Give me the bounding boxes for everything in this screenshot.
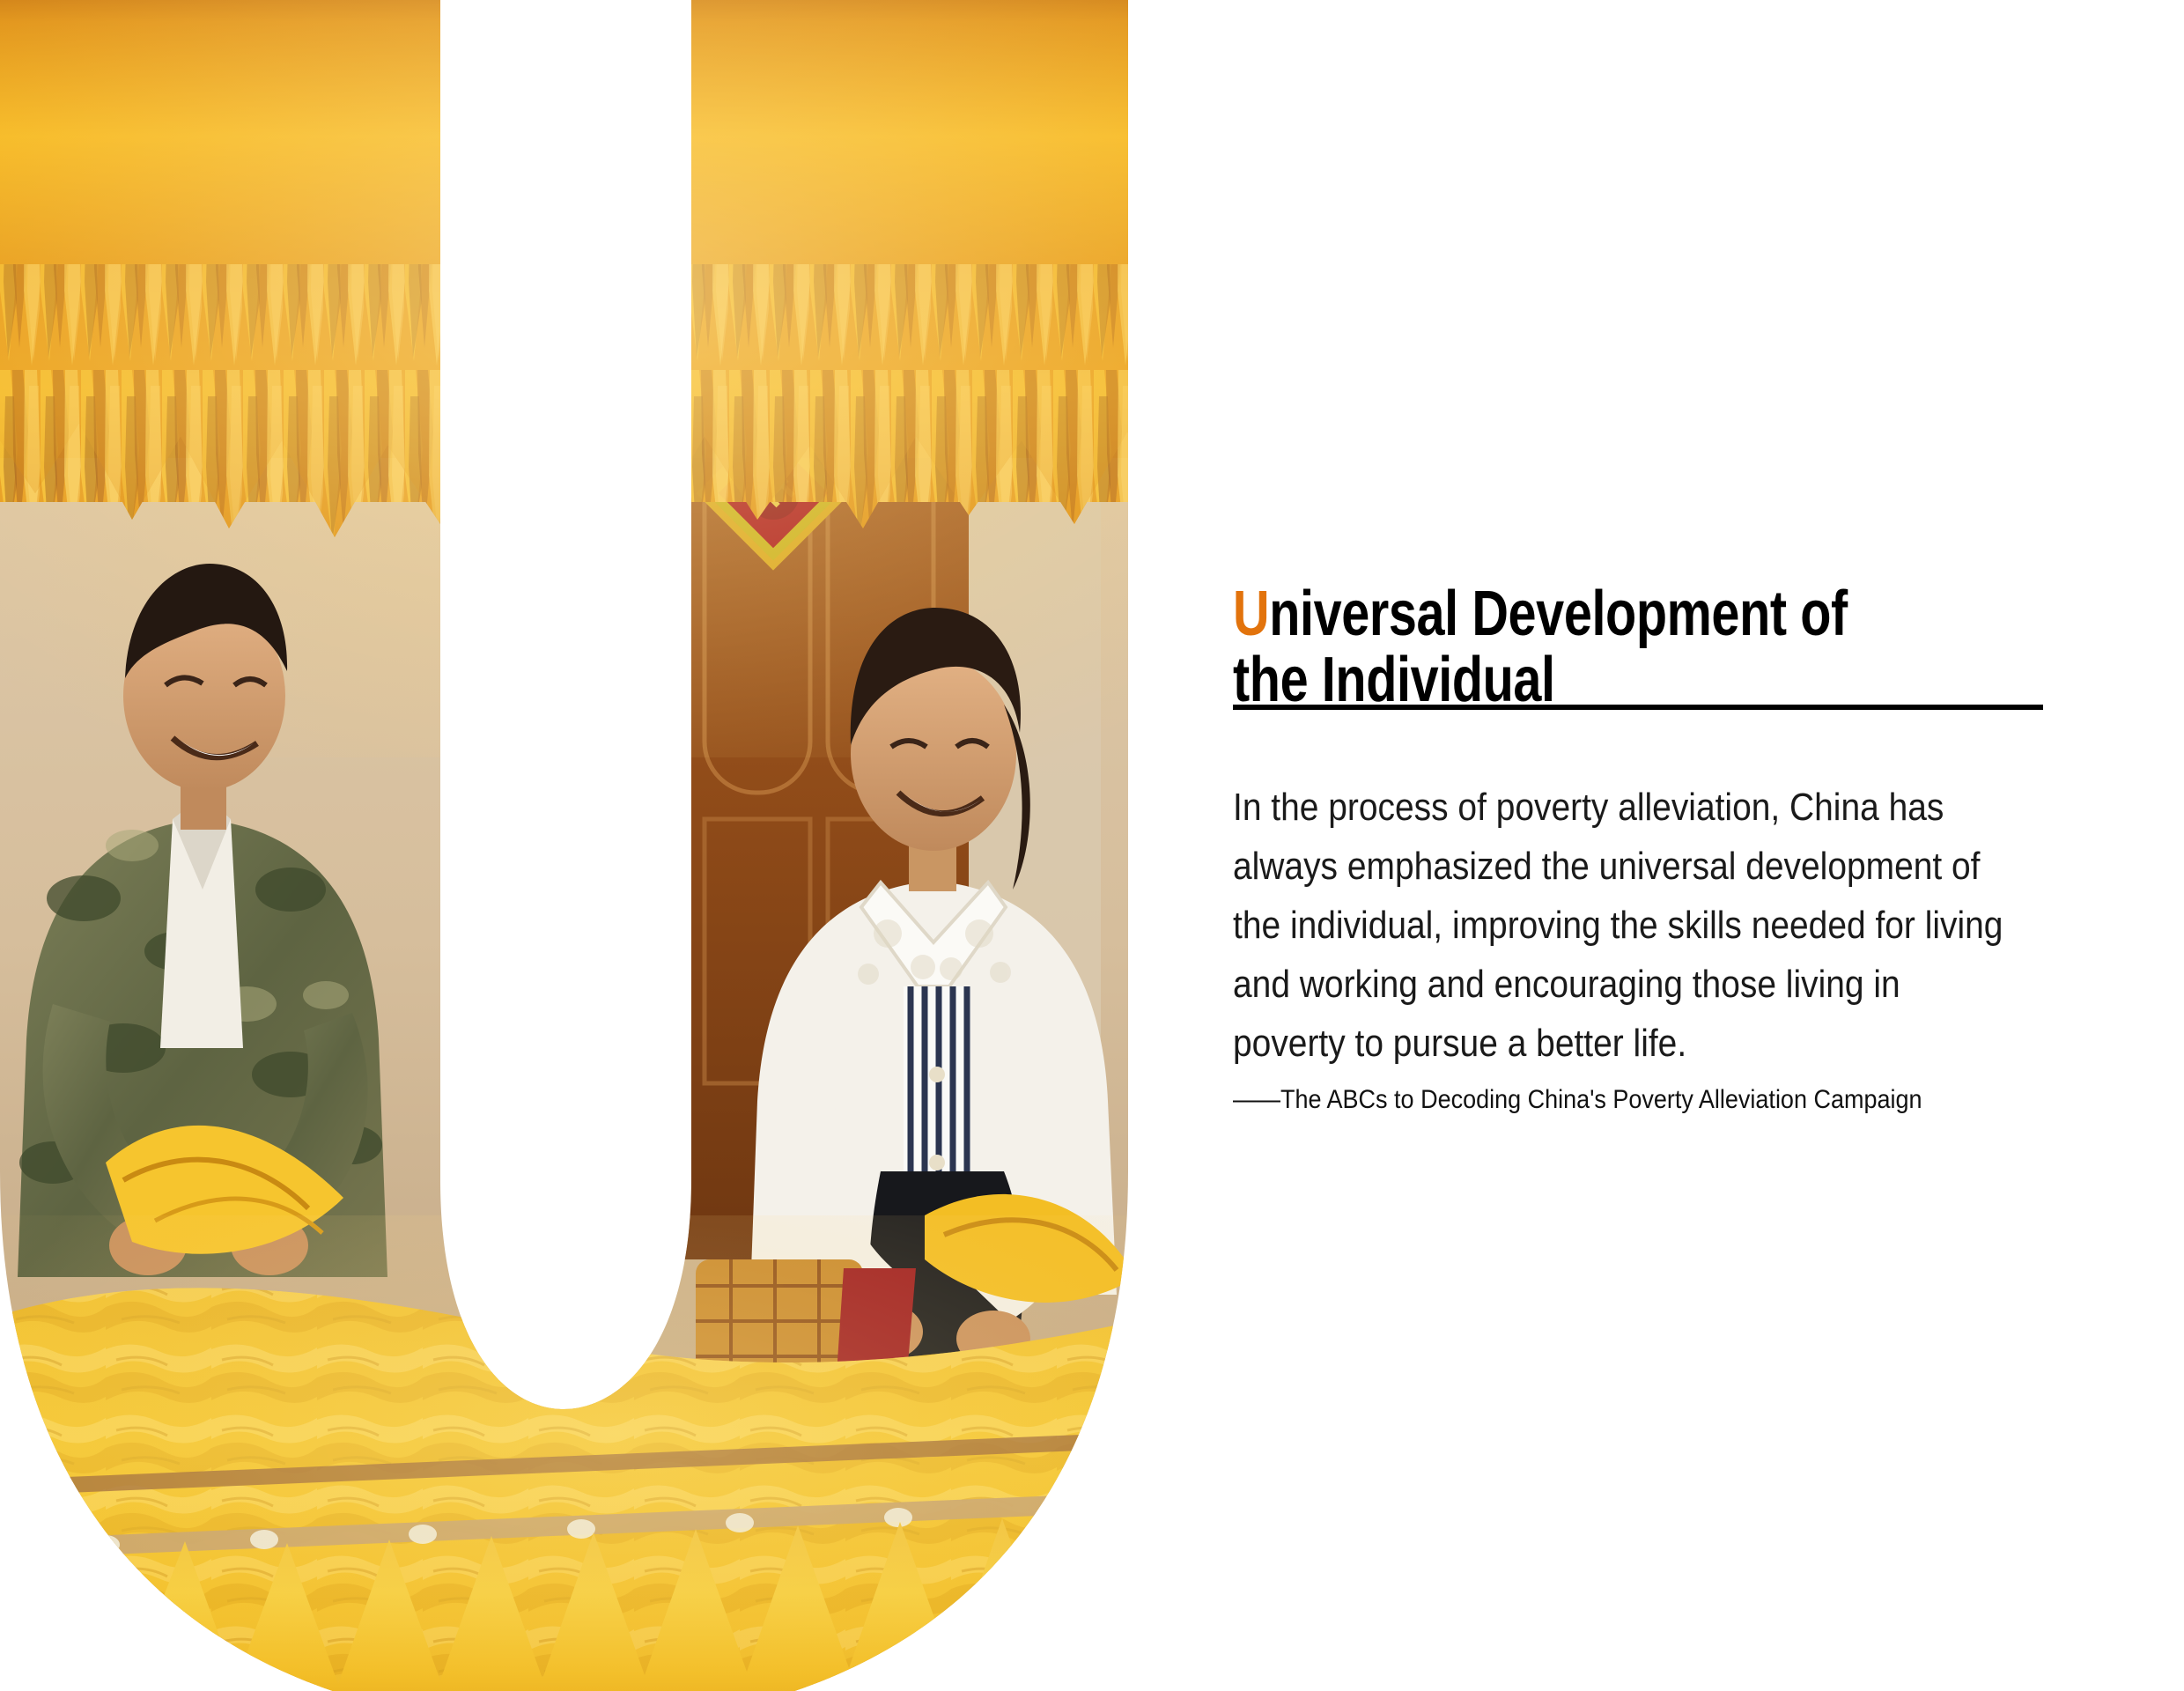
headline-initial: U: [1233, 579, 1269, 649]
letter-u-image-panel: [0, 0, 1233, 1691]
attribution-line: ——The ABCs to Decoding China's Poverty A…: [1233, 1082, 2121, 1117]
title-divider: [1233, 705, 2043, 710]
u-clipped-photo: [0, 0, 1233, 1691]
letter-u-illustration: [0, 0, 1233, 1691]
floor-glow: [0, 1215, 1233, 1691]
text-column: Universal Development of the Individual …: [1233, 0, 2184, 1691]
headline-rest: niversal Development of the Individual: [1233, 579, 1848, 715]
body-paragraph: In the process of poverty alleviation, C…: [1233, 779, 2012, 1073]
page-title: Universal Development of the Individual: [1233, 581, 1909, 713]
